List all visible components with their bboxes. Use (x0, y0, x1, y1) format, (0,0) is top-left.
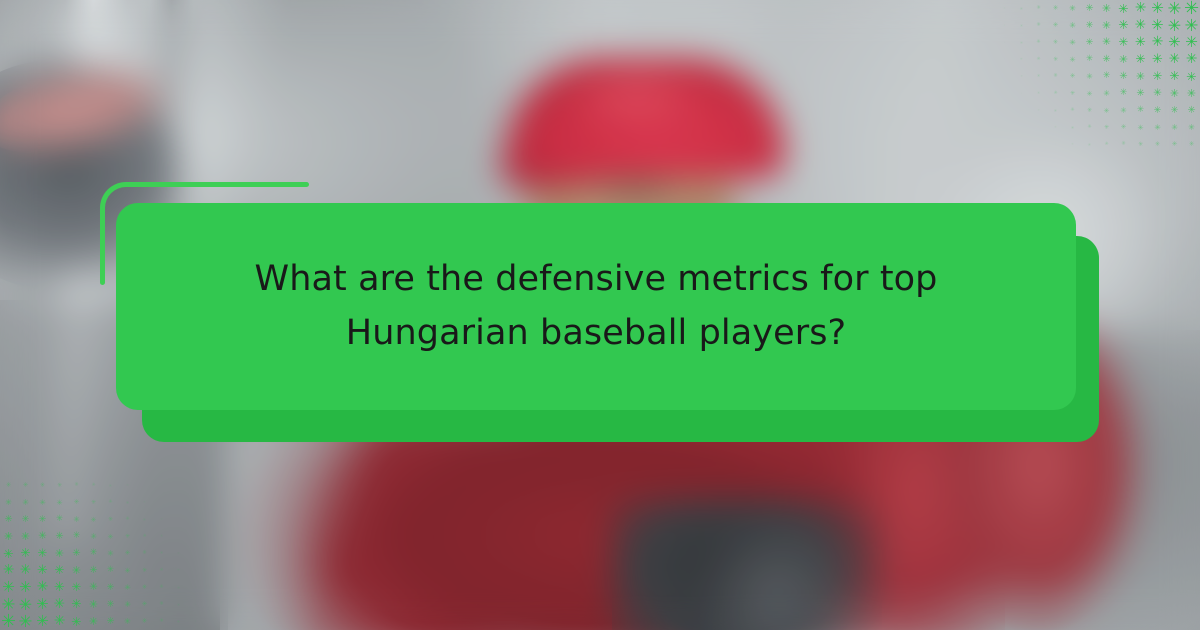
question-text: What are the defensive metrics for top H… (255, 253, 938, 359)
question-card: What are the defensive metrics for top H… (116, 203, 1076, 410)
screenshot-canvas: ✳✳✳✳✳✳✳✳✳✳✳✳✳✳✳✳✳✳✳✳✳✳✳✳✳✳✳✳✳✳✳✳✳✳✳✳✳✳✳✳… (0, 0, 1200, 630)
